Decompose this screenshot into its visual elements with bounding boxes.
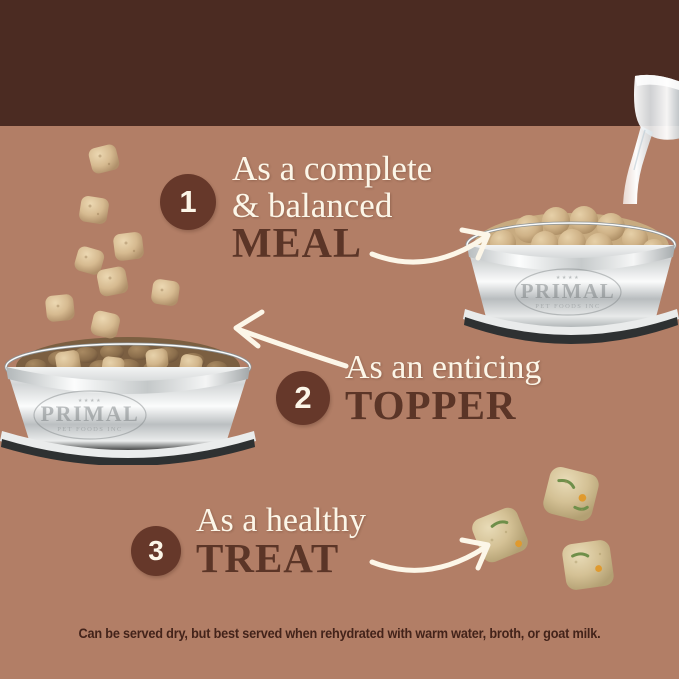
bowl-brand-right: PRIMAL [521,279,616,303]
step-3-number-badge: 3 [131,526,181,576]
treat-nugget-2 [541,465,601,524]
step-3-line-1: As a healthy [196,503,366,539]
infographic-root: ★★★★ PRIMAL PET FOODS INC [0,0,679,679]
svg-text:PET FOODS INC: PET FOODS INC [535,303,600,310]
bowl-brand-left: PRIMAL [41,401,140,426]
step-2-number-badge: 2 [276,371,330,425]
step-2-text: As an enticing TOPPER [345,350,541,427]
step-1-emphasis: MEAL [232,222,432,266]
bowl-logo-left: ★★★★ PRIMAL PET FOODS INC [34,391,146,439]
treat-nugget-3 [561,539,615,591]
bowl-logo-right: ★★★★ PRIMAL PET FOODS INC [515,269,621,315]
step-2-line-1: As an enticing [345,350,541,386]
water-stream [623,126,653,204]
svg-text:PET FOODS INC: PET FOODS INC [57,426,122,433]
step-2-emphasis: TOPPER [345,384,541,427]
footer-note: Can be served dry, but best served when … [20,626,658,641]
curved-arrow-right-icon-3 [368,528,500,584]
step-1-text: As a complete & balanced MEAL [232,150,432,266]
curved-arrow-left-icon-2 [228,308,352,374]
water-pitcher-icon [617,74,679,204]
step-1-line-2: & balanced [232,187,432,224]
header-band [0,0,679,126]
step-3-text: As a healthy TREAT [196,503,366,580]
step-1-line-1: As a complete [232,150,432,187]
step-3-emphasis: TREAT [196,537,366,580]
falling-nuggets-cluster [26,140,216,345]
step-1-number-badge: 1 [160,174,216,230]
